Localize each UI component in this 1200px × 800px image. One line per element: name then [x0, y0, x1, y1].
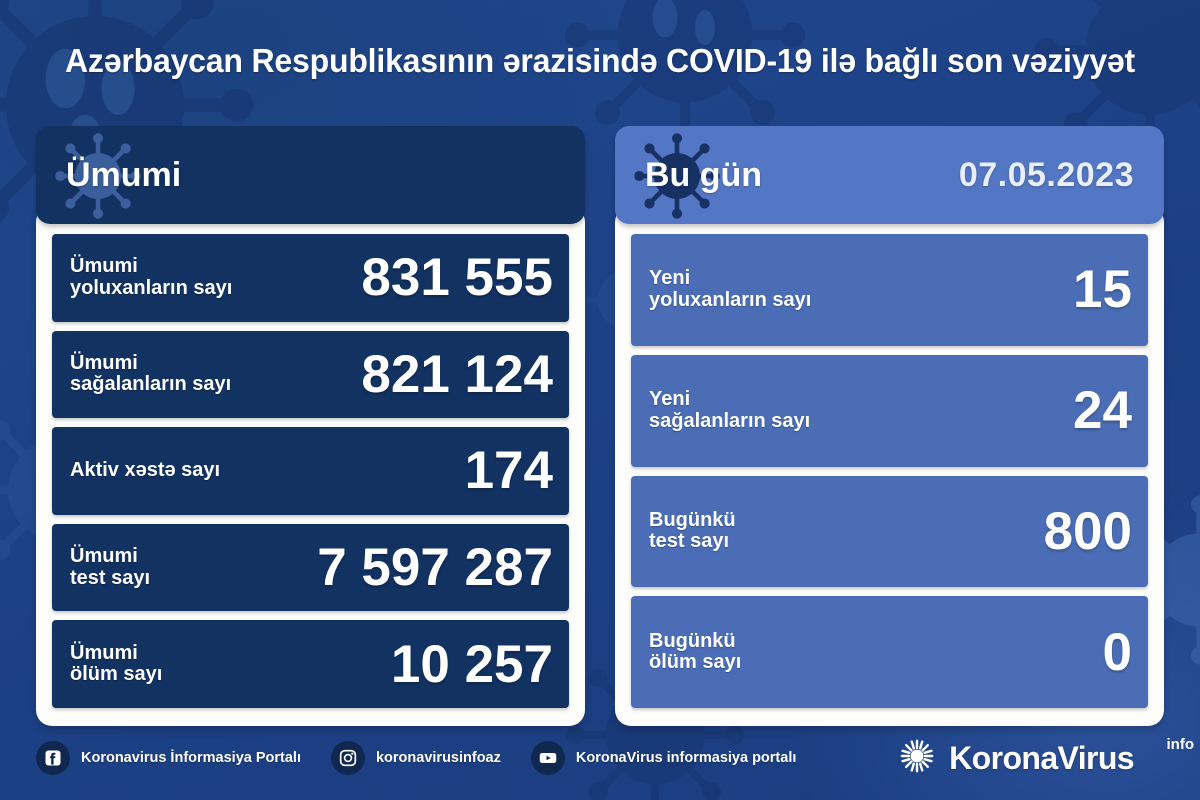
stat-value: 24	[1073, 384, 1132, 437]
social-label: KoronaVirus informasiya portalı	[576, 750, 797, 766]
today-panel-date: 07.05.2023	[959, 156, 1134, 195]
today-panel: Bu gün 07.05.2023 Yeni yoluxanların sayı…	[615, 126, 1164, 726]
social-label: Koronavirus İnformasiya Portalı	[81, 750, 301, 766]
stat-value: 831 555	[361, 251, 553, 304]
stat-label: Yeni yoluxanların sayı	[649, 268, 811, 311]
today-panel-body: Yeni yoluxanların sayı 15 Yeni sağalanla…	[615, 206, 1164, 726]
stat-label: Bugünkü test sayı	[649, 510, 736, 553]
stat-label: Yeni sağalanların sayı	[649, 389, 810, 432]
stat-row-total-recovered: Ümumi sağalanların sayı 821 124	[52, 331, 569, 419]
social-link-facebook[interactable]: Koronavirus İnformasiya Portalı	[36, 741, 301, 775]
social-link-instagram[interactable]: koronavirusinfoaz	[331, 741, 501, 775]
stat-row-new-cases: Yeni yoluxanların sayı 15	[631, 234, 1148, 346]
stat-row-active-cases: Aktiv xəstə sayı 174	[52, 427, 569, 515]
stat-row-total-deaths: Ümumi ölüm sayı 10 257	[52, 620, 569, 708]
today-panel-header: Bu gün 07.05.2023	[615, 126, 1164, 224]
stat-row-total-cases: Ümumi yoluxanların sayı 831 555	[52, 234, 569, 322]
total-panel-body: Ümumi yoluxanların sayı 831 555 Ümumi sa…	[36, 206, 585, 726]
stat-value: 800	[1044, 505, 1132, 558]
brand-text-wrap: KoronaVirus info	[949, 740, 1164, 777]
social-links: Koronavirus İnformasiya Portalı koronavi…	[36, 741, 796, 775]
social-label: koronavirusinfoaz	[376, 750, 501, 766]
stat-value: 0	[1103, 626, 1132, 679]
youtube-icon[interactable]	[531, 741, 565, 775]
stat-label: Ümumi yoluxanların sayı	[70, 256, 232, 299]
stat-value: 174	[465, 444, 553, 497]
brand-suffix: info	[1167, 736, 1195, 753]
brand-name: KoronaVirus	[949, 740, 1134, 776]
statistics-panels: Ümumi Ümumi yoluxanların sayı 831 555 Üm…	[36, 126, 1164, 726]
brand-logo[interactable]: KoronaVirus info	[897, 736, 1164, 781]
footer-bar: Koronavirus İnformasiya Portalı koronavi…	[36, 730, 1164, 786]
stat-row-new-recovered: Yeni sağalanların sayı 24	[631, 355, 1148, 467]
stat-row-today-deaths: Bugünkü ölüm sayı 0	[631, 596, 1148, 708]
stat-label: Bugünkü ölüm sayı	[649, 631, 741, 674]
instagram-icon[interactable]	[331, 741, 365, 775]
infographic-root: Azərbaycan Respublikasının ərazisində CO…	[0, 0, 1200, 800]
stat-value: 7 597 287	[317, 541, 553, 594]
stat-label: Aktiv xəstə sayı	[70, 460, 220, 482]
stat-value: 821 124	[361, 348, 553, 401]
stat-row-today-tests: Bugünkü test sayı 800	[631, 476, 1148, 588]
facebook-icon[interactable]	[36, 741, 70, 775]
stat-row-total-tests: Ümumi test sayı 7 597 287	[52, 524, 569, 612]
total-panel: Ümumi Ümumi yoluxanların sayı 831 555 Üm…	[36, 126, 585, 726]
total-panel-header: Ümumi	[36, 126, 585, 224]
stat-value: 15	[1073, 263, 1132, 316]
today-panel-heading: Bu gün	[645, 156, 762, 195]
page-title-bar: Azərbaycan Respublikasının ərazisində CO…	[0, 42, 1200, 80]
stat-label: Ümumi test sayı	[70, 546, 150, 589]
stat-label: Ümumi sağalanların sayı	[70, 353, 231, 396]
page-title: Azərbaycan Respublikasının ərazisində CO…	[18, 42, 1182, 80]
stat-value: 10 257	[391, 638, 553, 691]
total-panel-heading: Ümumi	[66, 156, 181, 195]
virus-sun-icon	[897, 736, 937, 781]
social-link-youtube[interactable]: KoronaVirus informasiya portalı	[531, 741, 797, 775]
stat-label: Ümumi ölüm sayı	[70, 643, 162, 686]
